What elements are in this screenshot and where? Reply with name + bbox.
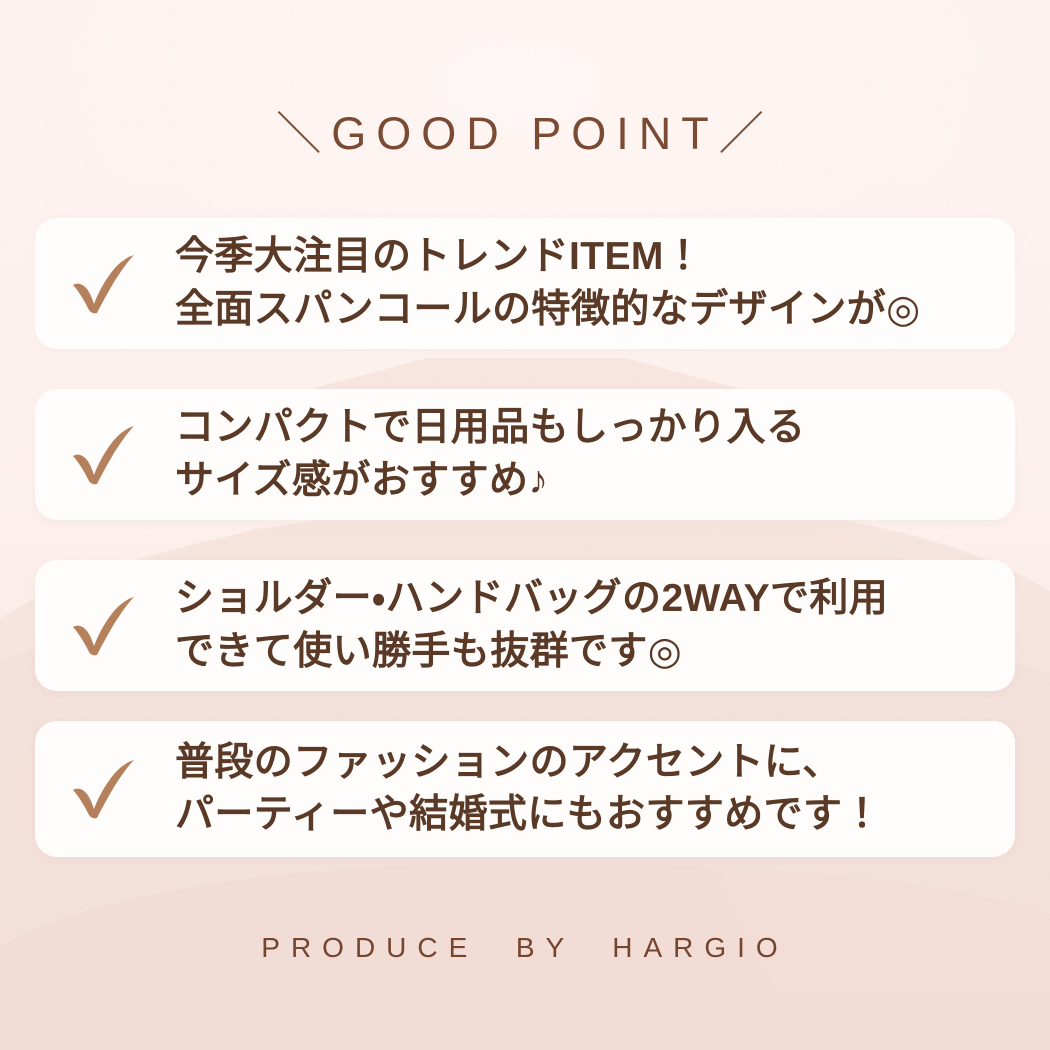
list-item-text: コンパクトで日用品もしっかり入る サイズ感がおすすめ♪ bbox=[175, 402, 1015, 507]
list-item: ショルダー・ハンドバッグの2WAYで利用 できて使い勝手も抜群です◎ bbox=[35, 560, 1015, 691]
good-point-list: 今季大注目のトレンドITEM！ 全面スパンコールの特徴的なデザインが◎ コンパク… bbox=[35, 218, 1015, 857]
list-item-line: 普段のファッションのアクセントに、 bbox=[175, 737, 997, 789]
check-mark-icon bbox=[35, 389, 175, 520]
check-mark-icon bbox=[35, 560, 175, 691]
check-mark-icon bbox=[35, 721, 175, 857]
list-item-line: コンパクトで日用品もしっかり入る bbox=[175, 402, 997, 454]
list-item-line: サイズ感がおすすめ♪ bbox=[175, 455, 997, 507]
list-item-text: 普段のファッションのアクセントに、 パーティーや結婚式にもおすすめです！ bbox=[175, 737, 1015, 842]
list-item: コンパクトで日用品もしっかり入る サイズ感がおすすめ♪ bbox=[35, 389, 1015, 520]
content-layer: ＼GOOD POINT／ 今季大注目のトレンドITEM！ 全面スパンコールの特徴… bbox=[0, 0, 1050, 1050]
check-mark-icon bbox=[35, 218, 175, 349]
list-item-line: 全面スパンコールの特徴的なデザインが◎ bbox=[175, 284, 997, 336]
list-item-line: 今季大注目のトレンドITEM！ bbox=[175, 231, 997, 283]
promo-graphic: ＼GOOD POINT／ 今季大注目のトレンドITEM！ 全面スパンコールの特徴… bbox=[0, 0, 1050, 1050]
footer-credit: PRODUCE BY HARGIO bbox=[0, 932, 1050, 964]
list-item: 普段のファッションのアクセントに、 パーティーや結婚式にもおすすめです！ bbox=[35, 721, 1015, 857]
list-item-line: パーティーや結婚式にもおすすめです！ bbox=[175, 789, 997, 841]
list-item: 今季大注目のトレンドITEM！ 全面スパンコールの特徴的なデザインが◎ bbox=[35, 218, 1015, 349]
page-title: ＼GOOD POINT／ bbox=[0, 97, 1050, 162]
list-item-text: 今季大注目のトレンドITEM！ 全面スパンコールの特徴的なデザインが◎ bbox=[175, 231, 1015, 336]
list-item-line: ショルダー・ハンドバッグの2WAYで利用 bbox=[175, 573, 997, 625]
list-item-line: できて使い勝手も抜群です◎ bbox=[175, 626, 997, 678]
list-item-text: ショルダー・ハンドバッグの2WAYで利用 できて使い勝手も抜群です◎ bbox=[175, 573, 1015, 678]
